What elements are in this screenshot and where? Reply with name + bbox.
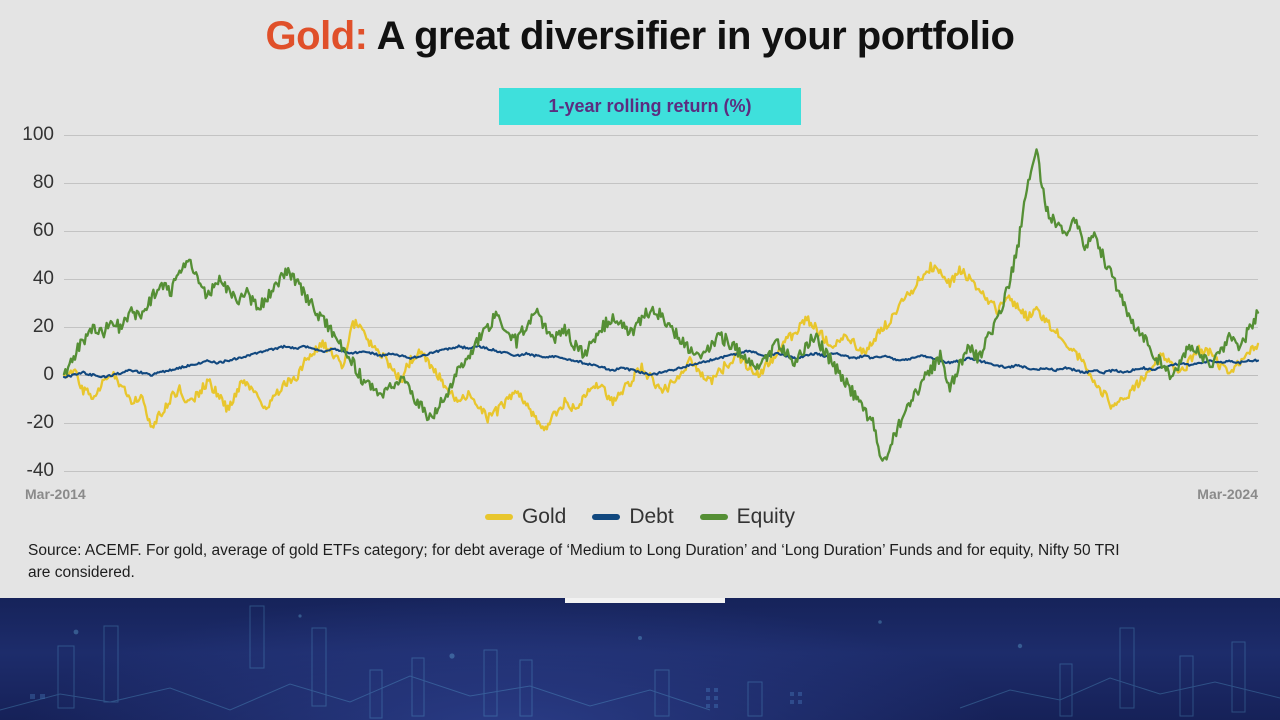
footer-chart-artwork bbox=[0, 598, 1280, 720]
y-tick-100: 100 bbox=[22, 124, 54, 146]
subtitle-badge: 1-year rolling return (%) bbox=[499, 88, 801, 125]
legend-swatch-gold-icon bbox=[485, 514, 513, 520]
x-axis-start-label: Mar-2014 bbox=[25, 486, 86, 502]
y-tick--40: -40 bbox=[27, 460, 54, 482]
footer-banner: money control f✕▣➤in◑ bbox=[0, 598, 1280, 720]
infographic-canvas: Gold: A great diversifier in your portfo… bbox=[0, 0, 1280, 720]
series-line-debt bbox=[64, 345, 1258, 377]
y-tick--20: -20 bbox=[27, 412, 54, 434]
legend-label: Equity bbox=[737, 505, 795, 529]
title-rest: A great diversifier in your portfolio bbox=[367, 14, 1014, 58]
series-line-equity bbox=[64, 149, 1258, 460]
x-axis-end-label: Mar-2024 bbox=[1197, 486, 1258, 502]
legend-swatch-debt-icon bbox=[592, 514, 620, 520]
page-title: Gold: A great diversifier in your portfo… bbox=[0, 14, 1280, 59]
y-tick-20: 20 bbox=[33, 316, 54, 338]
y-axis-labels: 100806040200-20-40 bbox=[0, 0, 64, 500]
title-highlight: Gold: bbox=[266, 14, 368, 58]
chart-plot-area bbox=[64, 135, 1258, 471]
series-line-gold bbox=[64, 263, 1258, 430]
legend-item-debt[interactable]: Debt bbox=[592, 505, 673, 529]
source-note: Source: ACEMF. For gold, average of gold… bbox=[28, 540, 1138, 585]
y-tick-80: 80 bbox=[33, 172, 54, 194]
line-series-group bbox=[64, 135, 1258, 471]
legend-label: Gold bbox=[522, 505, 566, 529]
subtitle-badge-label: 1-year rolling return (%) bbox=[548, 96, 751, 117]
legend-item-gold[interactable]: Gold bbox=[485, 505, 566, 529]
legend-label: Debt bbox=[629, 505, 673, 529]
y-tick-60: 60 bbox=[33, 220, 54, 242]
y-tick-0: 0 bbox=[43, 364, 54, 386]
legend-item-equity[interactable]: Equity bbox=[700, 505, 795, 529]
chart-legend: GoldDebtEquity bbox=[0, 505, 1280, 529]
legend-swatch-equity-icon bbox=[700, 514, 728, 520]
y-tick-40: 40 bbox=[33, 268, 54, 290]
gridline--40 bbox=[64, 471, 1258, 472]
